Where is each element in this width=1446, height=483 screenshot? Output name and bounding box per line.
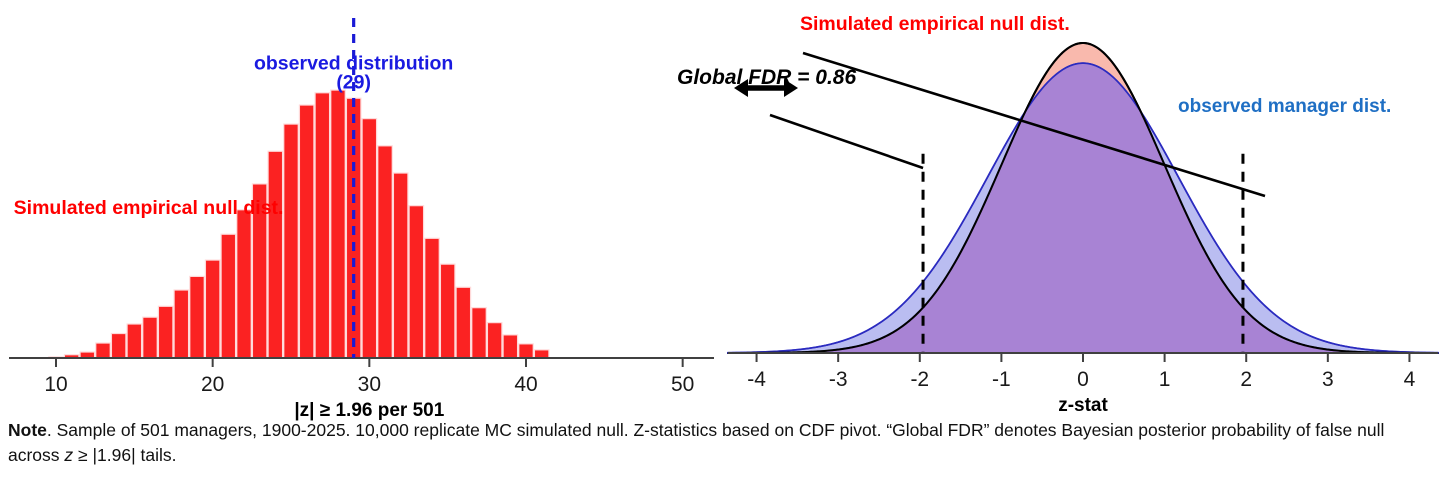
x-tick-label: 40 xyxy=(514,373,537,396)
x-tick-label: 4 xyxy=(1404,368,1416,391)
lower-cut-leader xyxy=(770,115,923,168)
histogram-bar xyxy=(237,210,251,358)
note-italic-z: z xyxy=(64,445,73,465)
x-axis-ticks: -4-3-2-101234 xyxy=(747,353,1415,391)
histogram-bar xyxy=(111,334,125,358)
note-text-tail: ≥ |1.96| tails. xyxy=(73,445,176,465)
histogram-bar xyxy=(378,146,392,358)
panel-container: 1020304050|z| ≥ 1.96 per 501Simulated em… xyxy=(0,0,1446,410)
x-axis-ticks: 1020304050 xyxy=(44,358,694,396)
null-dist-label: Simulated empirical null dist. xyxy=(800,13,1070,35)
histogram-bar xyxy=(534,350,548,358)
histogram-bar xyxy=(158,306,172,358)
histogram-bar xyxy=(331,90,345,358)
x-tick-label: -1 xyxy=(992,368,1011,391)
x-tick-label: 2 xyxy=(1240,368,1252,391)
x-axis-title: z-stat xyxy=(1058,395,1108,416)
x-tick-label: 3 xyxy=(1322,368,1334,391)
histogram-bar xyxy=(440,264,454,358)
histogram-bar xyxy=(221,234,235,358)
note-text: . Sample of 501 managers, 1900-2025. 10,… xyxy=(8,420,1384,465)
histogram-bar xyxy=(174,290,188,358)
x-tick-label: 20 xyxy=(201,373,224,396)
histogram-bar xyxy=(487,323,501,358)
x-tick-label: 10 xyxy=(44,373,67,396)
histogram-bar xyxy=(472,308,486,358)
x-tick-label: -2 xyxy=(910,368,929,391)
histogram-bar xyxy=(315,93,329,358)
x-tick-label: -3 xyxy=(829,368,848,391)
left-histogram-panel: 1020304050|z| ≥ 1.96 per 501Simulated em… xyxy=(0,0,720,410)
observed-dist-value: (29) xyxy=(336,72,371,94)
left-histogram-svg: 1020304050|z| ≥ 1.96 per 501Simulated em… xyxy=(0,0,720,410)
note-label: Note xyxy=(8,420,47,440)
histogram-bar xyxy=(393,173,407,358)
figure-note: Note. Sample of 501 managers, 1900-2025.… xyxy=(8,418,1428,469)
histogram-bar xyxy=(143,317,157,358)
figure-root: 1020304050|z| ≥ 1.96 per 501Simulated em… xyxy=(0,0,1446,483)
histogram-bar xyxy=(96,343,110,358)
histogram-bar xyxy=(299,105,313,358)
histogram-bar xyxy=(190,276,204,358)
manager-dist-label: observed manager dist. xyxy=(1178,96,1391,117)
histogram-bar xyxy=(362,119,376,358)
right-density-svg: -4-3-2-101234z-statSimulated empirical n… xyxy=(720,0,1446,410)
histogram-bar xyxy=(456,287,470,358)
x-tick-label: -4 xyxy=(747,368,766,391)
x-tick-label: 30 xyxy=(358,373,381,396)
right-density-panel: -4-3-2-101234z-statSimulated empirical n… xyxy=(720,0,1446,410)
null-dist-label: Simulated empirical null dist. xyxy=(14,197,284,219)
x-tick-label: 50 xyxy=(671,373,694,396)
histogram-bar xyxy=(519,344,533,358)
x-tick-label: 1 xyxy=(1159,368,1171,391)
histogram-bar xyxy=(503,335,517,358)
histogram-bar xyxy=(127,324,141,358)
histogram-bars xyxy=(49,90,549,358)
histogram-bar xyxy=(284,124,298,358)
histogram-bar xyxy=(409,206,423,358)
histogram-bar xyxy=(268,151,282,358)
histogram-bar xyxy=(205,260,219,358)
histogram-bar xyxy=(425,238,439,358)
x-tick-label: 0 xyxy=(1077,368,1089,391)
